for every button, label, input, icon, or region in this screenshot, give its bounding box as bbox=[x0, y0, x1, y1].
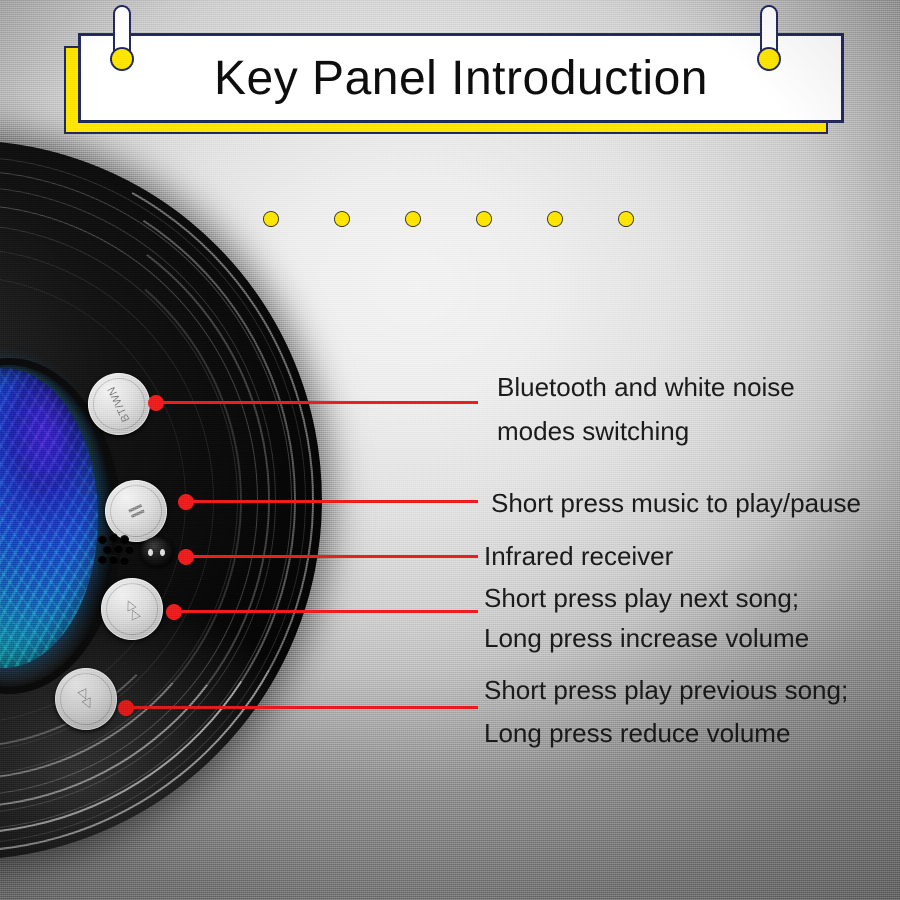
callout-text-next-line2: Long press increase volume bbox=[484, 617, 809, 659]
bt-wn-button-label: BT/WN bbox=[106, 384, 133, 423]
callout-text-play-pause: Short press music to play/pause bbox=[491, 482, 861, 524]
infrared-receiver bbox=[140, 537, 174, 567]
bullet-dot-4 bbox=[476, 211, 492, 227]
callout-text-bt-wn-line2: modes switching bbox=[497, 410, 689, 452]
pause-icon bbox=[128, 504, 144, 518]
bt-wn-button[interactable]: BT/WN bbox=[88, 373, 150, 435]
callout-line-bt-wn bbox=[156, 401, 478, 404]
bullet-dot-3 bbox=[405, 211, 421, 227]
callout-line-prev bbox=[126, 706, 478, 709]
prev-track-button[interactable]: ◁◁ bbox=[55, 668, 117, 730]
next-track-icon: ▷▷ bbox=[122, 597, 142, 621]
speaker-grille bbox=[98, 533, 142, 567]
bullet-dot-6 bbox=[618, 211, 634, 227]
callout-line-infrared bbox=[186, 555, 478, 558]
product-infographic: BT/WN ▷▷ ◁◁ Bluetooth and white noise mo… bbox=[0, 0, 900, 900]
pin-head bbox=[757, 47, 781, 71]
callout-text-prev-line1: Short press play previous song; bbox=[484, 669, 848, 711]
bullet-dot-1 bbox=[263, 211, 279, 227]
pin-head bbox=[110, 47, 134, 71]
banner-panel: Key Panel Introduction bbox=[78, 33, 844, 123]
led-light-lens bbox=[0, 368, 98, 668]
page-title: Key Panel Introduction bbox=[214, 51, 708, 106]
callout-text-prev-line2: Long press reduce volume bbox=[484, 712, 790, 754]
bullet-dot-5 bbox=[547, 211, 563, 227]
callout-line-play-pause bbox=[186, 500, 478, 503]
prev-track-icon: ◁◁ bbox=[76, 687, 96, 711]
next-track-button[interactable]: ▷▷ bbox=[101, 578, 163, 640]
callout-text-bt-wn-line1: Bluetooth and white noise bbox=[497, 366, 795, 408]
callout-text-next-line1: Short press play next song; bbox=[484, 577, 799, 619]
callout-text-infrared: Infrared receiver bbox=[484, 535, 673, 577]
title-banner: Key Panel Introduction bbox=[0, 0, 900, 150]
callout-line-next bbox=[174, 610, 478, 613]
bullet-dot-2 bbox=[334, 211, 350, 227]
